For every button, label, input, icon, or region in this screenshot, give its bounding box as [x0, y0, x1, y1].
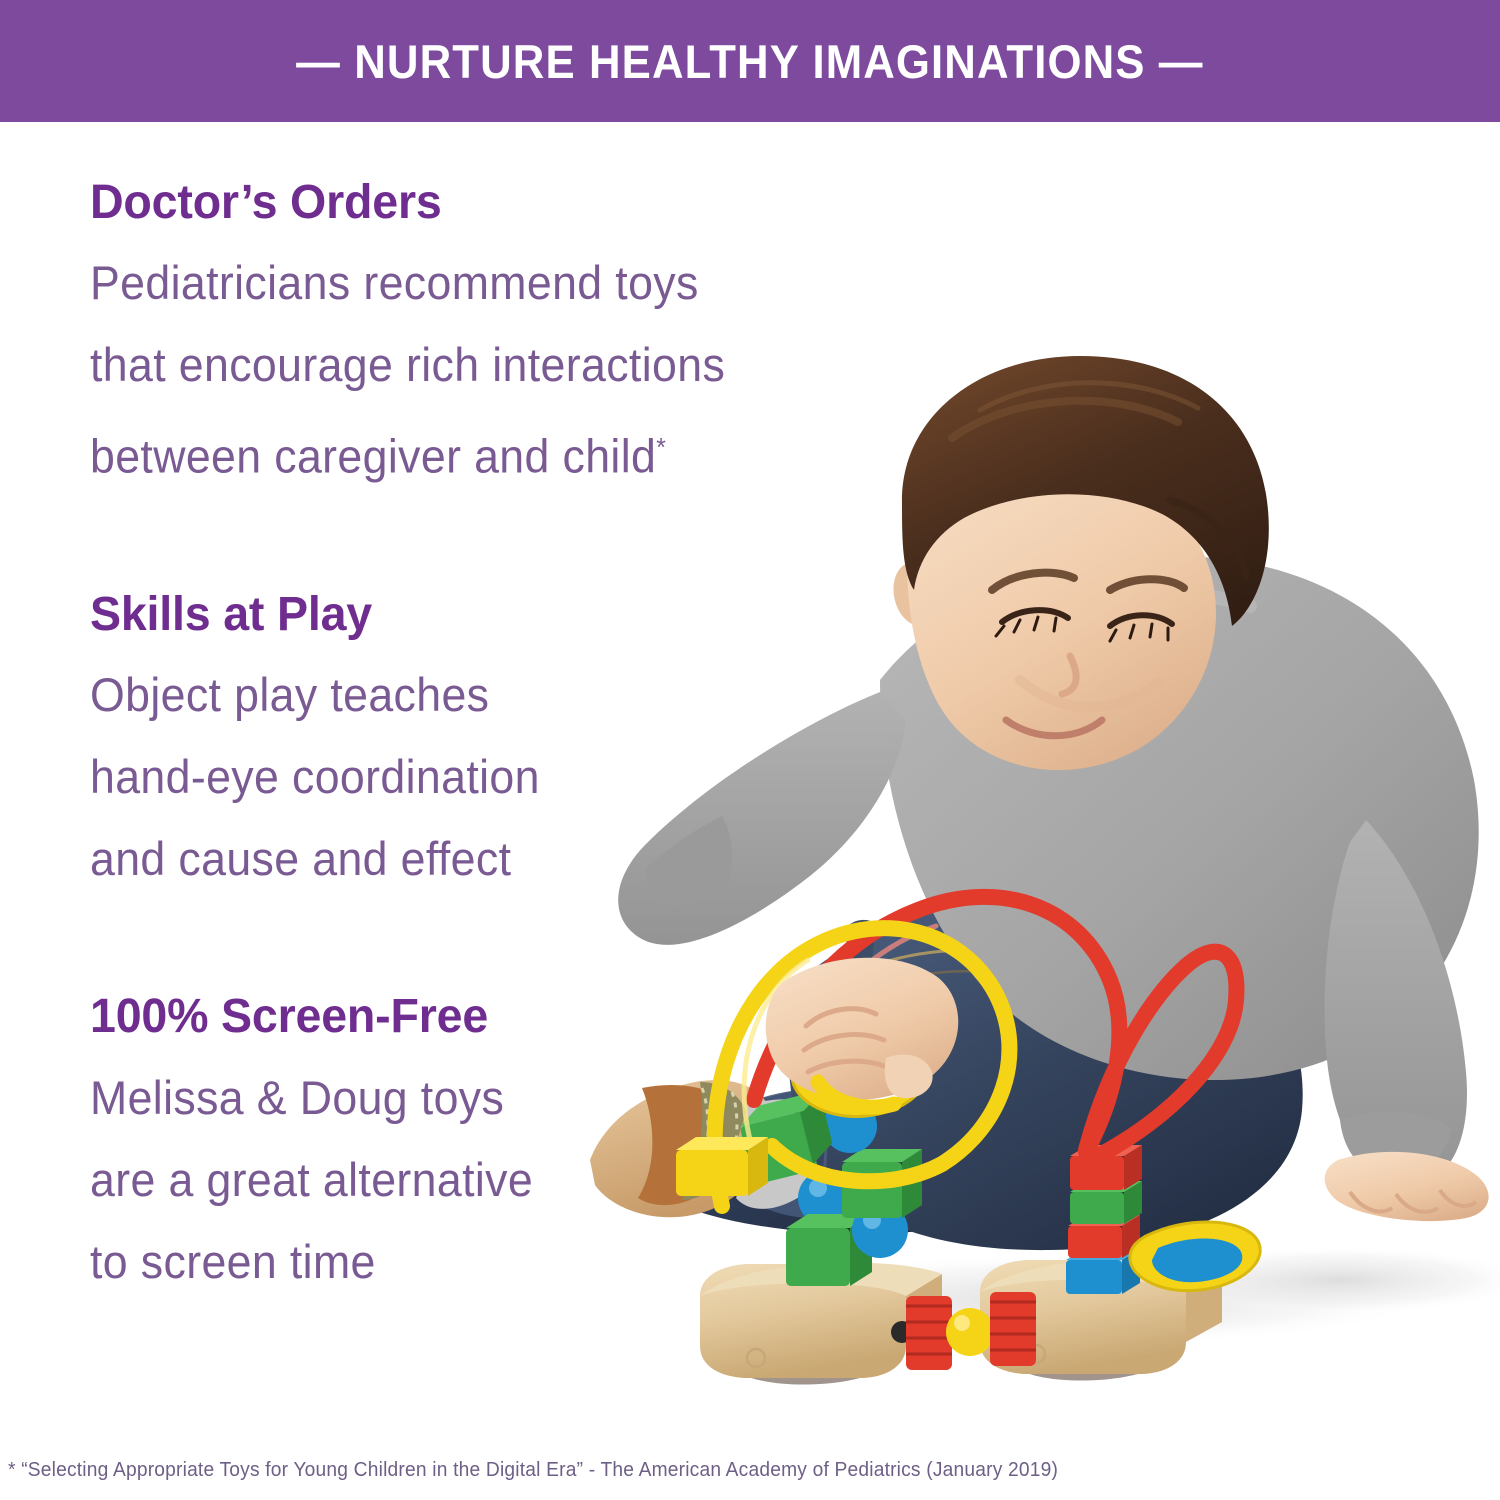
footnote-marker: *	[656, 432, 666, 462]
benefit-line: Object play teaches	[90, 654, 774, 736]
bead-yellow-ball	[946, 1308, 994, 1356]
benefit-heading: 100% Screen-Free	[90, 992, 788, 1042]
header-banner: — NURTURE HEALTHY IMAGINATIONS —	[0, 0, 1500, 122]
benefit-line: that encourage rich interactions	[90, 324, 774, 406]
gear-red-1	[906, 1296, 952, 1370]
banner-title: — NURTURE HEALTHY IMAGINATIONS —	[296, 34, 1203, 89]
gear-red-2	[990, 1292, 1036, 1366]
benefit-line-with-footnote: between caregiver and child*	[90, 406, 774, 498]
benefit-line: Pediatricians recommend toys	[90, 242, 774, 324]
benefit-line: are a great alternative	[90, 1139, 774, 1221]
infographic-page: — NURTURE HEALTHY IMAGINATIONS —	[0, 0, 1500, 1500]
benefit-heading: Doctor’s Orders	[90, 178, 788, 228]
benefit-block-skills-at-play: Skills at Play Object play teaches hand-…	[90, 590, 810, 900]
benefit-line: hand-eye coordination	[90, 736, 774, 818]
benefit-block-screen-free: 100% Screen-Free Melissa & Doug toys are…	[90, 992, 810, 1302]
benefit-line: Melissa & Doug toys	[90, 1057, 774, 1139]
benefit-heading: Skills at Play	[90, 590, 788, 640]
supporting-hand	[1325, 1152, 1489, 1221]
benefits-text-column: Doctor’s Orders Pediatricians recommend …	[90, 178, 810, 1303]
bead-stack-right	[1066, 1145, 1142, 1294]
benefit-line: and cause and effect	[90, 818, 774, 900]
footnote-text: * “Selecting Appropriate Toys for Young …	[8, 1459, 1058, 1482]
benefit-line: to screen time	[90, 1221, 774, 1303]
benefit-line-text: between caregiver and child	[90, 430, 656, 483]
benefit-block-doctors-orders: Doctor’s Orders Pediatricians recommend …	[90, 178, 810, 498]
